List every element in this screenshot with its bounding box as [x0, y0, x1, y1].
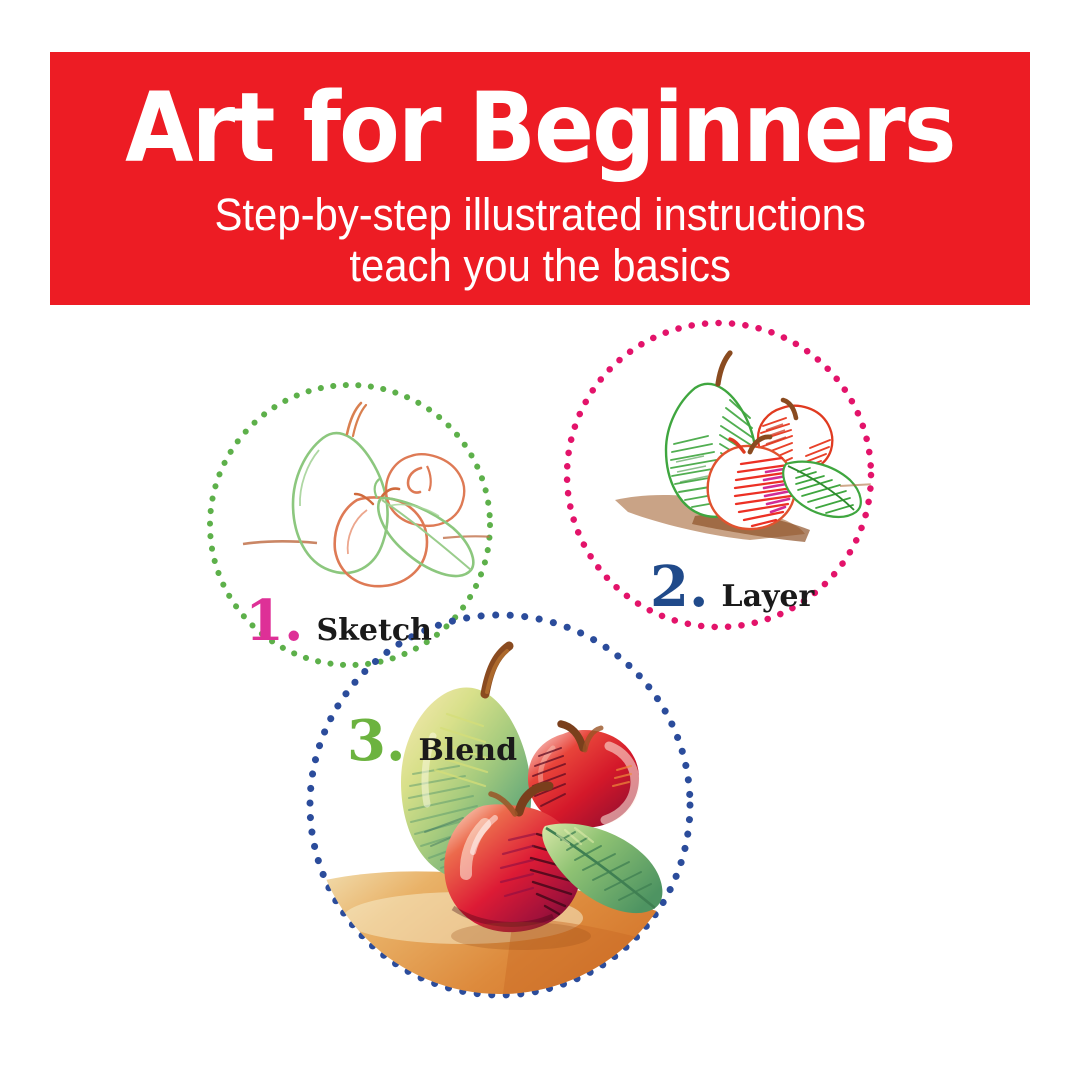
page-subtitle-line-2: teach you the basics [214, 241, 865, 292]
step-name-3: Blend [418, 737, 517, 764]
step-label-blend: 3. Blend [347, 716, 517, 766]
illustration-blend [313, 618, 687, 992]
page-title: Art for Beginners [125, 80, 954, 176]
header-banner: Art for Beginners Step-by-step illustrat… [50, 52, 1030, 305]
step-number-1: 1. [245, 596, 303, 646]
step-number-3: 3. [347, 716, 405, 766]
step-number-2: 2. [650, 562, 708, 612]
page-subtitle-line-1: Step-by-step illustrated instructions [214, 190, 865, 241]
step-label-layer: 2. Layer [650, 562, 814, 612]
step-name-2: Layer [721, 583, 814, 610]
step-name-1: Sketch [316, 617, 431, 644]
illustration-layer [600, 340, 870, 590]
step-label-sketch: 1. Sketch [245, 596, 432, 646]
page-subtitle: Step-by-step illustrated instructions te… [214, 190, 865, 292]
step-card-blend[interactable] [305, 610, 695, 1000]
